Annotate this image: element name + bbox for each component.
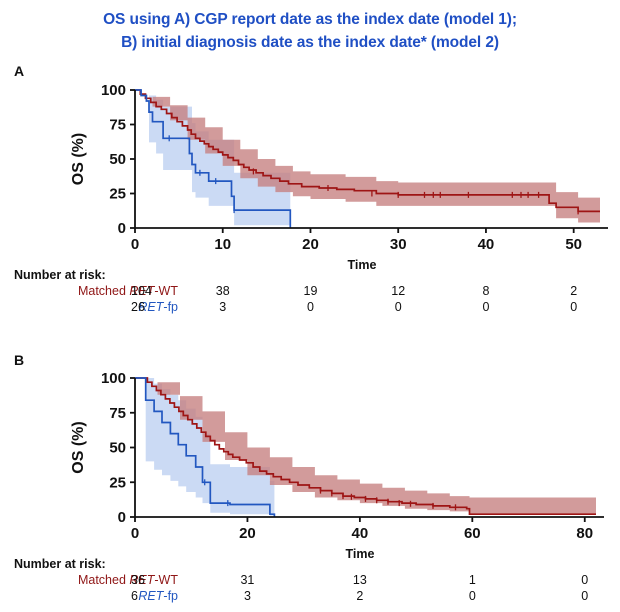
panelB-risk-value: 2 <box>340 589 380 603</box>
panelB-y-tick-label: 50 <box>109 440 126 457</box>
panelB-risk-value: 31 <box>227 573 267 587</box>
panelB-y-tick-label: 100 <box>101 370 126 387</box>
panelB-risk-value: 36 <box>131 573 171 587</box>
panelB-y-tick-label: 25 <box>109 474 126 491</box>
panelB-risk-value: 6 <box>131 589 171 603</box>
panel-b-risk-header: Number at risk: <box>14 557 106 571</box>
panelB-ci-band-ret-fp <box>135 378 274 516</box>
panelB-risk-value: 0 <box>452 589 492 603</box>
panel-b-chart: 0204060800255075100OS (%) <box>0 0 620 612</box>
panelB-y-tick-label: 0 <box>118 509 126 526</box>
panelB-risk-value: 0 <box>565 589 605 603</box>
panel-b-risk-table: Number at risk: Matched RET-WT36311310RE… <box>0 557 620 607</box>
panelB-risk-value: 3 <box>227 589 267 603</box>
panelB-risk-value: 0 <box>565 573 605 587</box>
panelB-y-axis-title: OS (%) <box>70 421 87 473</box>
panelB-plot-area: 0204060800255075100OS (%) <box>70 370 604 542</box>
panelB-y-tick-label: 75 <box>109 405 126 422</box>
panelB-x-tick-label: 60 <box>464 525 481 542</box>
panelB-risk-value: 1 <box>452 573 492 587</box>
panelB-x-tick-label: 20 <box>239 525 256 542</box>
panelB-x-tick-label: 80 <box>576 525 593 542</box>
panelB-x-tick-label: 40 <box>352 525 369 542</box>
panelB-risk-value: 13 <box>340 573 380 587</box>
panelB-x-tick-label: 0 <box>131 525 139 542</box>
